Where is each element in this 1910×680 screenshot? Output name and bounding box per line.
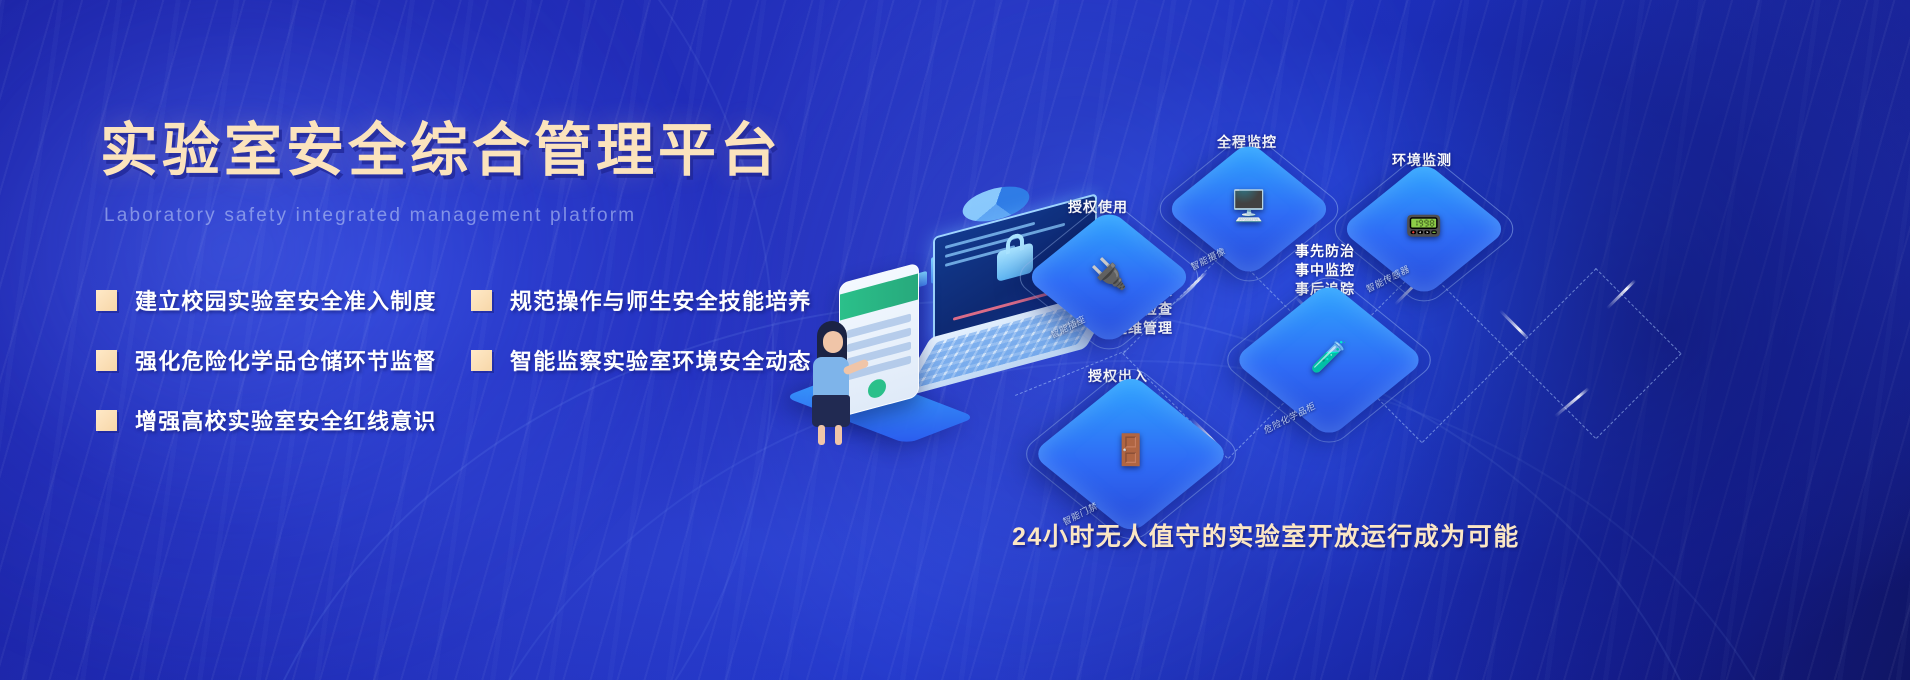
- square-marker-icon: [96, 410, 117, 431]
- light-spark: [1499, 309, 1529, 339]
- bullet-label: 建立校园实验室安全准入制度: [135, 284, 437, 316]
- node-environment-monitoring[interactable]: 📟 智能传感器: [1370, 175, 1478, 283]
- node-full-monitoring[interactable]: 🖥️ 智能摄像: [1195, 155, 1303, 263]
- square-marker-icon: [96, 290, 117, 311]
- connector-line: [1596, 353, 1682, 439]
- square-marker-icon: [96, 350, 117, 371]
- banner-root: 实验室安全综合管理平台 Laboratory safety integrated…: [0, 0, 1910, 680]
- smart-socket-icon: 🔌: [1090, 260, 1127, 290]
- square-marker-icon: [471, 350, 492, 371]
- square-marker-icon: [471, 290, 492, 311]
- list-item: 规范操作与师生安全技能培养: [471, 270, 846, 330]
- node-authorized-access[interactable]: 🚪 智能门禁: [1067, 390, 1195, 518]
- access-door-icon: 🚪: [1112, 436, 1149, 466]
- node-authorized-use[interactable]: 🔌 智能插座: [1055, 223, 1163, 331]
- list-item: 智能监察实验室环境安全动态: [471, 330, 846, 390]
- isometric-diagram: 培训考核 安全检查 运维管理 授权使用 🔌 智能插座 全程监控 🖥️ 智能摄像 …: [995, 95, 1900, 575]
- list-item: 建立校园实验室安全准入制度: [96, 270, 471, 330]
- connector-line: [1511, 268, 1597, 354]
- bullet-label: 智能监察实验室环境安全动态: [510, 344, 812, 376]
- connector-line: [1595, 268, 1681, 354]
- bullet-label: 规范操作与师生安全技能培养: [510, 284, 812, 316]
- bullet-label: 强化危险化学品仓储环节监督: [135, 344, 437, 376]
- cctv-monitor-icon: 🖥️: [1230, 192, 1267, 222]
- page-title: 实验室安全综合管理平台: [100, 118, 1000, 185]
- bottom-tagline: 24小时无人值守的实验室开放运行成为可能: [1012, 517, 1520, 553]
- list-item: 增强高校实验室安全红线意识: [96, 390, 471, 450]
- sensor-panel-icon: 📟: [1405, 212, 1442, 242]
- connector-line: [1510, 353, 1596, 439]
- node-chemical-cabinet[interactable]: 🧪 危险化学品柜: [1267, 298, 1391, 422]
- prevention-line: 事先防治: [1295, 242, 1355, 261]
- bullet-label: 增强高校实验室安全红线意识: [135, 404, 437, 436]
- chemical-cabinet-icon: 🧪: [1310, 343, 1347, 373]
- list-item: 强化危险化学品仓储环节监督: [96, 330, 471, 390]
- connector-line: [1422, 353, 1512, 443]
- phone-header: [840, 274, 918, 321]
- person-avatar: [799, 321, 879, 445]
